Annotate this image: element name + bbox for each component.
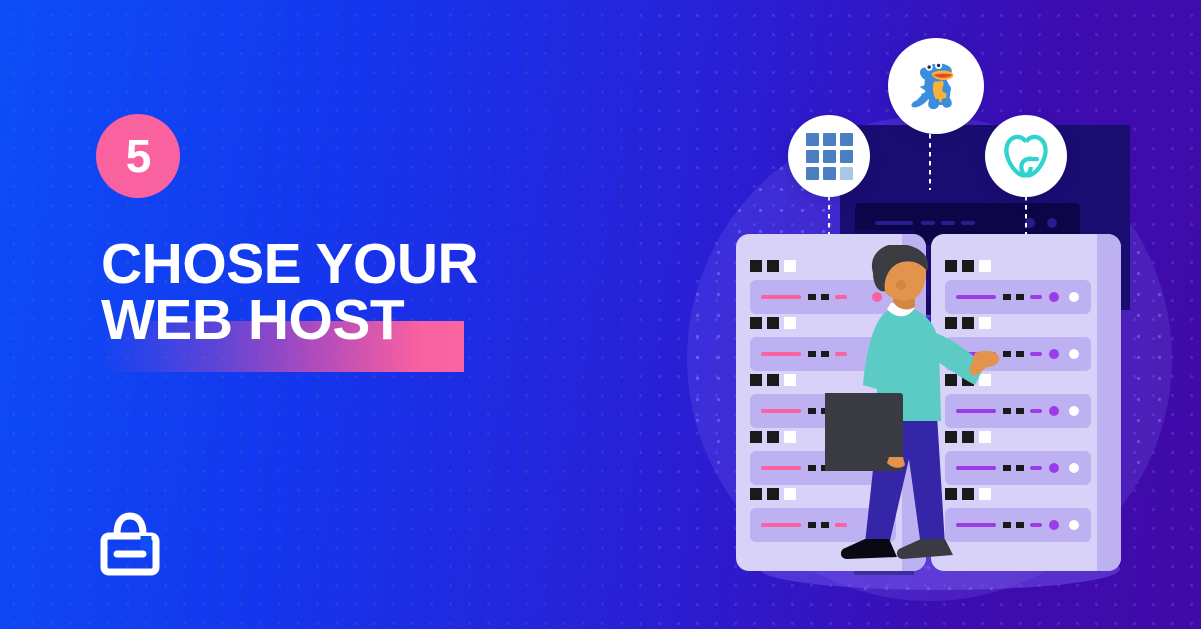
unit-block xyxy=(1016,408,1024,414)
unit-block xyxy=(808,522,816,528)
unit-line xyxy=(761,466,801,470)
unit-block xyxy=(1016,294,1024,300)
unit-status-dot xyxy=(1069,406,1079,416)
led-indicator xyxy=(750,488,762,500)
technician-shoe-left xyxy=(841,539,897,559)
unit-status-dot xyxy=(1069,463,1079,473)
rack-side-panel xyxy=(1097,234,1121,571)
page-title: CHOSE YOUR WEB HOST xyxy=(101,236,621,349)
led-indicator xyxy=(750,374,762,386)
unit-block xyxy=(808,351,816,357)
unit-line xyxy=(761,523,801,527)
unit-status-dot xyxy=(1069,520,1079,530)
panel-marking xyxy=(875,221,913,225)
led-indicator xyxy=(767,431,779,443)
host-logo-godaddy[interactable] xyxy=(985,115,1067,197)
unit-block xyxy=(808,465,816,471)
led-indicator xyxy=(767,317,779,329)
connector-line-top xyxy=(929,134,931,190)
led-indicator xyxy=(750,260,762,272)
unit-block xyxy=(1016,351,1024,357)
panel-marking xyxy=(921,221,935,225)
headline-line-2: WEB HOST xyxy=(101,292,621,348)
led-indicator xyxy=(750,317,762,329)
unit-status-dot xyxy=(1049,520,1059,530)
led-indicator xyxy=(784,374,796,386)
unit-line xyxy=(1030,523,1042,527)
panel-indicator xyxy=(1047,218,1057,228)
unit-line xyxy=(761,352,801,356)
led-indicator xyxy=(767,374,779,386)
unit-line xyxy=(1030,295,1042,299)
technician-hand xyxy=(969,351,999,375)
unit-status-dot xyxy=(1069,292,1079,302)
hosting-illustration xyxy=(640,0,1201,629)
banner-canvas: 5 CHOSE YOUR WEB HOST xyxy=(0,0,1201,629)
host-logo-hostgator[interactable] xyxy=(888,38,984,134)
panel-marking xyxy=(941,221,955,225)
technician-shoe-right xyxy=(897,539,953,559)
brand-logo xyxy=(99,512,161,578)
unit-line xyxy=(1030,409,1042,413)
headline-line-1: CHOSE YOUR xyxy=(101,236,621,292)
led-indicator xyxy=(784,260,796,272)
alligator-mascot-icon xyxy=(906,56,966,116)
led-indicator xyxy=(784,317,796,329)
led-indicator xyxy=(767,260,779,272)
step-number-label: 5 xyxy=(126,133,151,179)
unit-status-dot xyxy=(1049,406,1059,416)
host-logo-bluehost[interactable] xyxy=(788,115,870,197)
unit-status-dot xyxy=(1049,463,1059,473)
unit-line xyxy=(1030,466,1042,470)
unit-block xyxy=(808,408,816,414)
godaddy-heart-go-icon xyxy=(1001,131,1051,181)
unit-line xyxy=(761,409,801,413)
unit-status-dot xyxy=(1049,349,1059,359)
shopping-bag-icon xyxy=(99,512,161,578)
led-indicator xyxy=(750,431,762,443)
led-indicator xyxy=(784,488,796,500)
nine-square-grid-icon xyxy=(806,133,853,180)
technician-ear xyxy=(896,280,906,290)
unit-block xyxy=(808,294,816,300)
technician-figure xyxy=(825,245,1005,585)
led-indicator xyxy=(784,431,796,443)
unit-block xyxy=(1016,522,1024,528)
unit-block xyxy=(1016,465,1024,471)
step-number-badge: 5 xyxy=(96,114,180,198)
led-indicator xyxy=(767,488,779,500)
unit-line xyxy=(1030,352,1042,356)
panel-marking xyxy=(961,221,975,225)
unit-line xyxy=(761,295,801,299)
unit-status-dot xyxy=(1069,349,1079,359)
unit-status-dot xyxy=(1049,292,1059,302)
